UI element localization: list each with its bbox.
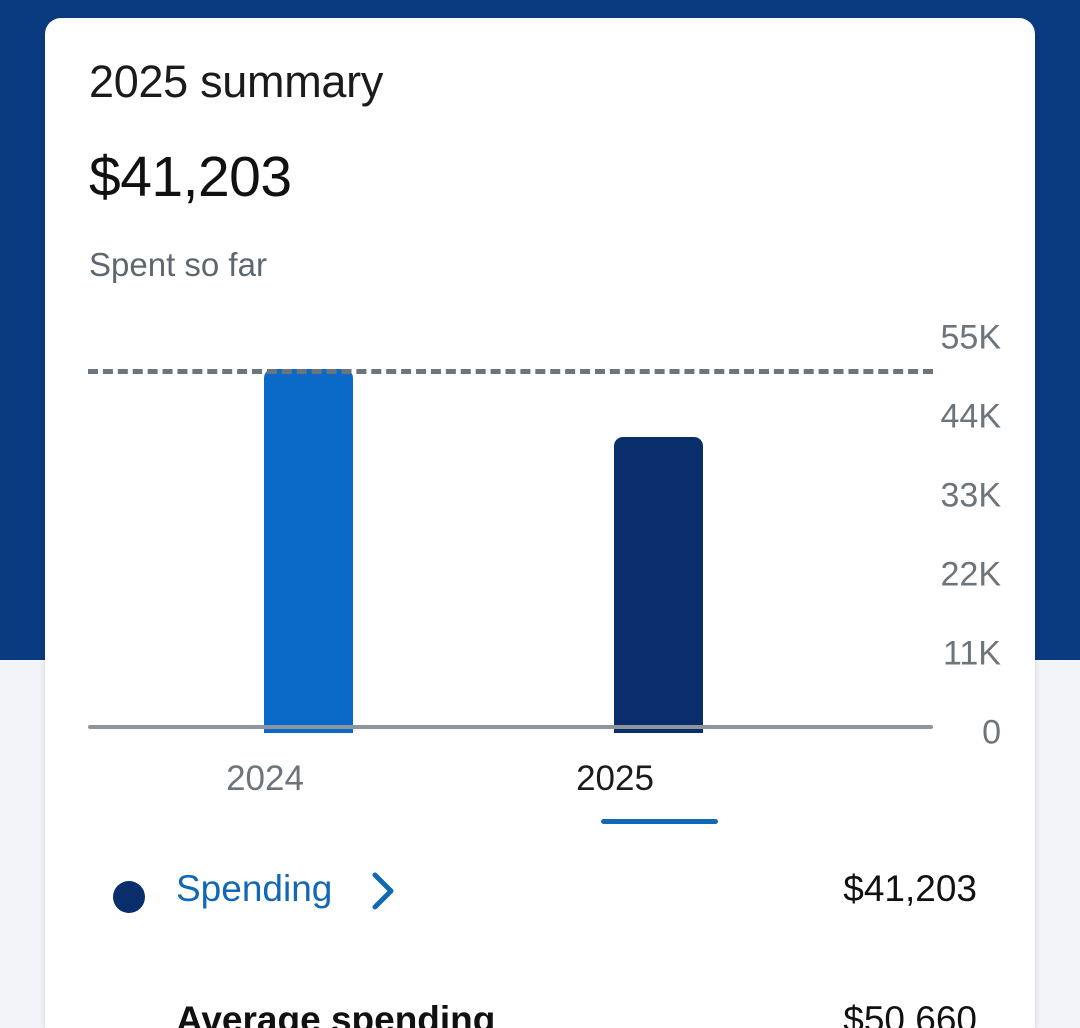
chart-plot-region [88,338,930,733]
spending-link-label[interactable]: Spending [176,868,332,910]
average-reference-line [88,369,933,374]
bar-2024[interactable] [264,369,353,733]
tab-indicator-2025 [601,819,718,824]
y-axis-tick: 55K [941,319,1002,358]
page-title: 2025 summary [89,56,383,108]
legend-row-average: Average spending $50,660 [45,929,1035,995]
tab-2024[interactable]: 2024 [165,759,365,799]
chevron-right-icon[interactable] [370,871,396,911]
legend-dot-icon [113,881,145,913]
x-axis: 2024 2025 [45,743,1035,838]
legend-row-spending[interactable]: Spending $41,203 [45,863,1035,929]
average-spending-value: $50,660 [843,999,977,1028]
spent-amount: $41,203 [89,144,292,210]
legend: Spending $41,203 Average spending $50,66… [45,863,1035,995]
y-axis-tick: 11K [943,635,1001,674]
y-axis: 55K 44K 33K 22K 11K 0 [915,318,1033,748]
spending-value: $41,203 [843,868,977,910]
y-axis-tick: 22K [941,556,1002,595]
x-axis-baseline [88,725,933,729]
card-inner: 2025 summary $41,203 Spent so far 55K 44… [45,18,1035,1028]
bar-2025[interactable] [614,437,703,733]
spent-subtitle: Spent so far [89,246,267,284]
y-axis-tick: 33K [941,477,1002,516]
summary-card: 2025 summary $41,203 Spent so far 55K 44… [45,18,1035,1028]
y-axis-tick: 44K [941,398,1002,437]
spending-bar-chart: 55K 44K 33K 22K 11K 0 2024 2025 [45,318,1035,838]
average-spending-label: Average spending [176,999,495,1028]
tab-2025[interactable]: 2025 [515,759,715,799]
